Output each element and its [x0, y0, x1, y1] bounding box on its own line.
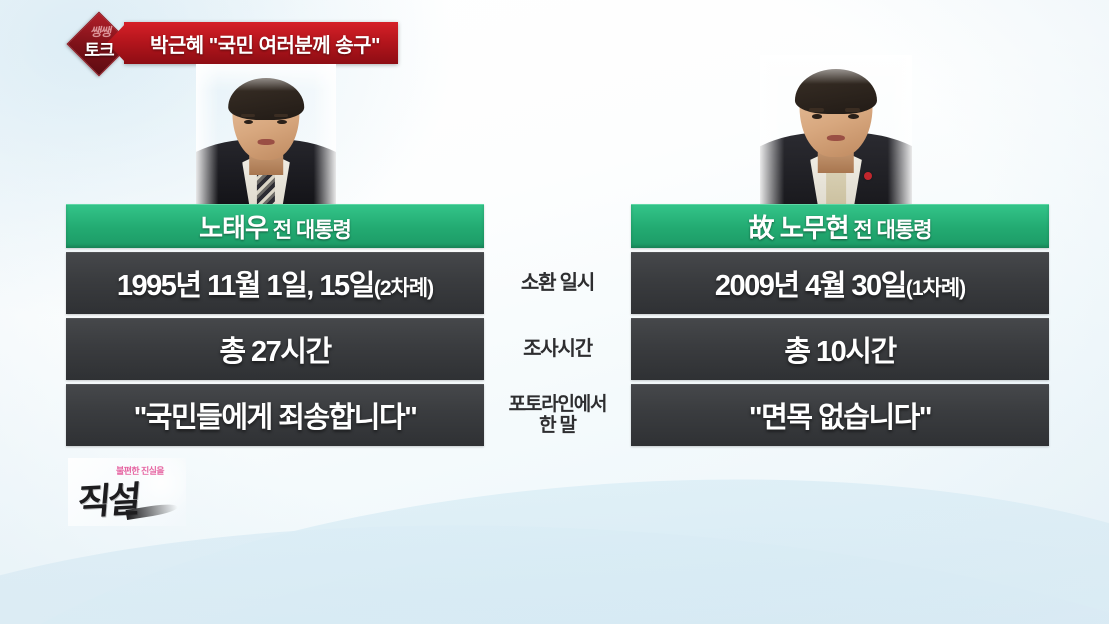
photo-fade-sides [196, 64, 336, 214]
right-hours-cell: 총 10시간 [631, 318, 1049, 380]
left-name-main: 노태우 [199, 213, 268, 243]
right-summons-date-cell: 2009년 4월 30일(1차례) [631, 252, 1049, 314]
headline-text: 박근혜 "국민 여러분께 송구" [150, 29, 380, 58]
headline-banner: 박근혜 "국민 여러분께 송구" [124, 22, 398, 64]
left-hours-cell: 총 27시간 [66, 318, 484, 380]
left-person-header: 노태우 전 대통령 [66, 204, 484, 248]
right-quote-text: "면목 없습니다" [749, 394, 931, 436]
label-summons-date-text: 소환 일시 [521, 272, 594, 294]
table-row: 총 27시간 조사시간 총 10시간 [0, 318, 1109, 380]
right-name-main: 노무현 [780, 213, 849, 243]
table-header-row: 노태우 전 대통령 故 노무현 전 대통령 [0, 204, 1109, 248]
right-president-photo [760, 55, 912, 215]
right-name-suffix: 전 대통령 [853, 219, 931, 242]
right-summons-date-paren: (1차례) [906, 277, 965, 300]
headline-bar: 쌩쌩 토크 박근혜 "국민 여러분께 송구" [68, 22, 398, 64]
right-quote-cell: "면목 없습니다" [631, 384, 1049, 446]
left-president-photo [196, 64, 336, 214]
program-watermark-logo: 불편한 진실을 직설 [68, 458, 186, 526]
left-summons-date: 1995년 11월 1일, 15일(2차례) [117, 262, 433, 304]
left-name-suffix: 전 대통령 [273, 219, 351, 242]
program-logo-text: 토크 [84, 36, 113, 61]
header-spacer [484, 204, 631, 248]
left-summons-date-cell: 1995년 11월 1일, 15일(2차례) [66, 252, 484, 314]
right-person-header: 故 노무현 전 대통령 [631, 204, 1049, 248]
label-investigation-hours-text: 조사시간 [523, 338, 592, 360]
right-summons-date-text: 2009년 4월 30일 [715, 270, 906, 302]
photo-fade-sides [760, 55, 912, 215]
left-quote-text: "국민들에게 죄송합니다" [134, 394, 417, 436]
label-investigation-hours: 조사시간 [484, 318, 631, 380]
left-summons-date-paren: (2차례) [374, 277, 433, 300]
label-photoline-quote: 포토라인에서한 말 [484, 384, 631, 446]
left-summons-date-text: 1995년 11월 1일, 15일 [117, 270, 374, 302]
label-photoline-quote-text: 포토라인에서한 말 [509, 394, 607, 437]
right-person-name: 故 노무현 전 대통령 [749, 208, 932, 245]
label-photoline-line2: 한 말 [539, 415, 576, 436]
left-hours-text: 총 27시간 [219, 328, 330, 370]
left-person-name: 노태우 전 대통령 [199, 208, 351, 245]
table-row: "국민들에게 죄송합니다" 포토라인에서한 말 "면목 없습니다" [0, 384, 1109, 446]
right-hours-text: 총 10시간 [784, 328, 895, 370]
left-quote-cell: "국민들에게 죄송합니다" [66, 384, 484, 446]
table-row: 1995년 11월 1일, 15일(2차례) 소환 일시 2009년 4월 30… [0, 252, 1109, 314]
broadcast-screen: 쌩쌩 토크 박근혜 "국민 여러분께 송구" [0, 0, 1109, 624]
comparison-table: 노태우 전 대통령 故 노무현 전 대통령 1995년 11월 1일, 15일(… [0, 204, 1109, 446]
right-summons-date: 2009년 4월 30일(1차례) [715, 262, 965, 304]
right-name-prefix: 故 [749, 213, 774, 243]
label-photoline-line1: 포토라인에서 [509, 394, 607, 415]
label-summons-date: 소환 일시 [484, 252, 631, 314]
